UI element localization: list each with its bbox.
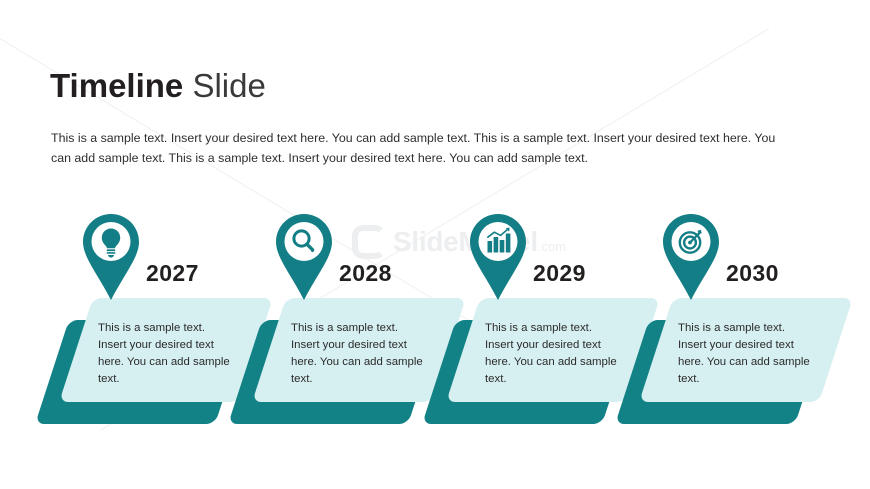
map-pin-marker[interactable]	[274, 213, 334, 301]
map-pin-marker[interactable]	[661, 213, 721, 301]
map-pin-marker[interactable]	[468, 213, 528, 301]
year-label: 2027	[146, 260, 199, 287]
year-label: 2028	[339, 260, 392, 287]
year-label: 2029	[533, 260, 586, 287]
card-text: This is a sample text. Insert your desir…	[678, 320, 810, 388]
card-text: This is a sample text. Insert your desir…	[98, 320, 230, 388]
timeline-step-2030[interactable]: This is a sample text. Insert your desir…	[630, 0, 870, 489]
year-label: 2030	[726, 260, 779, 287]
card-text: This is a sample text. Insert your desir…	[485, 320, 617, 388]
timeline: This is a sample text. Insert your desir…	[0, 0, 870, 489]
card-text: This is a sample text. Insert your desir…	[291, 320, 423, 388]
map-pin-marker[interactable]	[81, 213, 141, 301]
